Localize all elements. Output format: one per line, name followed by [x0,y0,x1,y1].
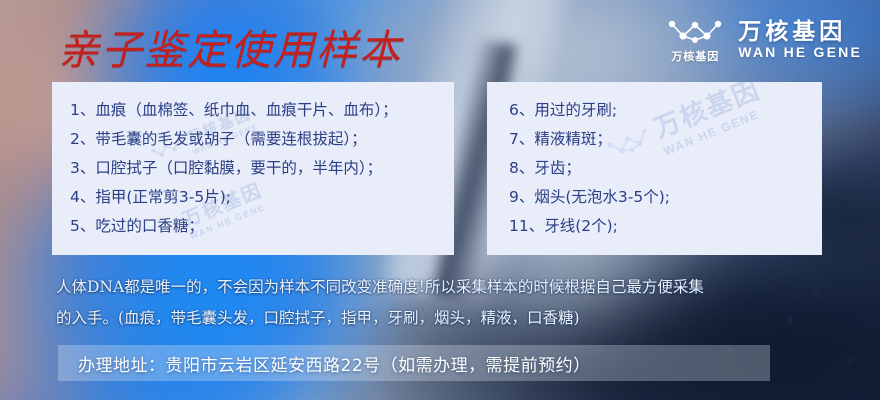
note-paragraph: 人体DNA都是唯一的，不会因为样本不同改变准确度!所以采集样本的时候根据自己最方… [56,272,846,334]
list-item: 9、烟头(无泡水3-5个); [509,183,822,212]
brand-name-cn: 万核基因 [738,19,862,45]
brand-mark: 万核基因 [666,16,724,64]
list-item: 2、带毛囊的毛发或胡子（需要连根拔起）； [70,125,454,154]
list-item: 1、血痕（血棉签、纸巾血、血痕干片、血布）； [70,96,454,125]
sample-panel-left: 万核基因 WAN HE GENE 万核 [52,82,454,255]
list-item: 11、牙线(2个); [509,212,822,241]
molecule-icon [666,16,724,46]
note-line-1: 人体DNA都是唯一的，不会因为样本不同改变准确度!所以采集样本的时候根据自己最方… [56,272,846,303]
note-line-2: 的入手。(血痕，带毛囊头发，口腔拭子，指甲，牙刷，烟头，精液，口香糖) [56,303,846,334]
list-item: 8、牙齿； [509,154,822,183]
list-item: 3、口腔拭子（口腔黏膜，要干的，半年内）； [70,154,454,183]
sample-list-right: 6、用过的牙刷; 7、精液精斑； 8、牙齿； 9、烟头(无泡水3-5个); 11… [487,82,822,241]
brand-logo: 万核基因 万核基因 WAN HE GENE [666,16,862,64]
list-item: 7、精液精斑； [509,125,822,154]
list-item: 6、用过的牙刷; [509,96,822,125]
list-item: 5、吃过的口香糖； [70,212,454,241]
list-item: 4、指甲(正常剪3-5片); [70,183,454,212]
poster-canvas: 亲子鉴定使用样本 [0,0,880,400]
page-title: 亲子鉴定使用样本 [58,16,402,76]
address-text: 办理地址：贵阳市云岩区延安西路22号（如需办理，需提前预约） [78,351,591,376]
brand-wordmark: 万核基因 WAN HE GENE [738,19,862,60]
sample-list-left: 1、血痕（血棉签、纸巾血、血痕干片、血布）； 2、带毛囊的毛发或胡子（需要连根拔… [52,82,454,241]
sample-panel-right: 万核基因 WAN HE GENE 6、用过的牙刷; 7、精液精斑； 8、牙齿； … [487,82,822,255]
brand-name-en: WAN HE GENE [738,45,862,61]
brand-mark-caption: 万核基因 [671,48,719,64]
